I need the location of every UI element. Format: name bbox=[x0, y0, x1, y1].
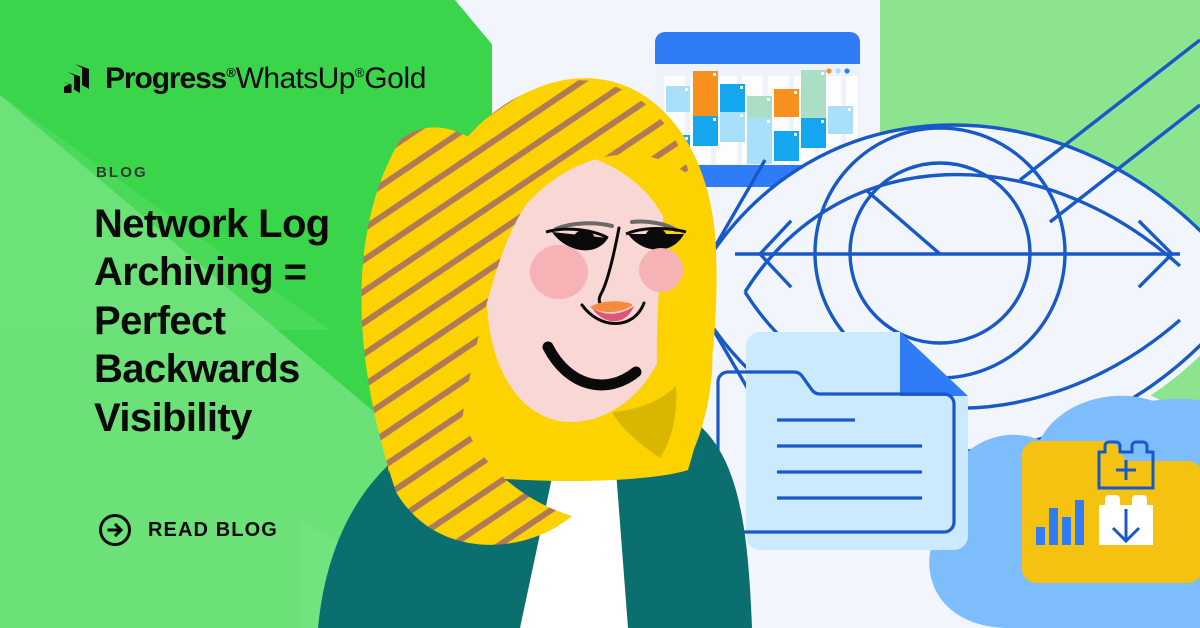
arrow-right-circle-icon bbox=[98, 513, 132, 547]
logo-whatsup: WhatsUp bbox=[236, 62, 355, 95]
page-title: Network Log Archiving = Perfect Backward… bbox=[94, 200, 424, 442]
logo-wordmark: Progress®WhatsUp®Gold bbox=[105, 64, 426, 94]
progress-whatsup-gold-logo[interactable]: Progress®WhatsUp®Gold bbox=[62, 62, 426, 96]
read-blog-button[interactable]: READ BLOG bbox=[98, 513, 278, 547]
read-blog-label: READ BLOG bbox=[148, 519, 278, 542]
content-type-label: BLOG bbox=[96, 164, 148, 181]
logo-gold: Gold bbox=[364, 62, 426, 95]
blog-promo-banner: Progress®WhatsUp®Gold BLOG Network Log A… bbox=[0, 0, 1200, 628]
logo-progress: Progress bbox=[105, 62, 226, 95]
logo-trademark-2: ® bbox=[355, 65, 364, 80]
logo-trademark-1: ® bbox=[226, 65, 235, 80]
progress-chevrons-icon bbox=[62, 62, 96, 96]
